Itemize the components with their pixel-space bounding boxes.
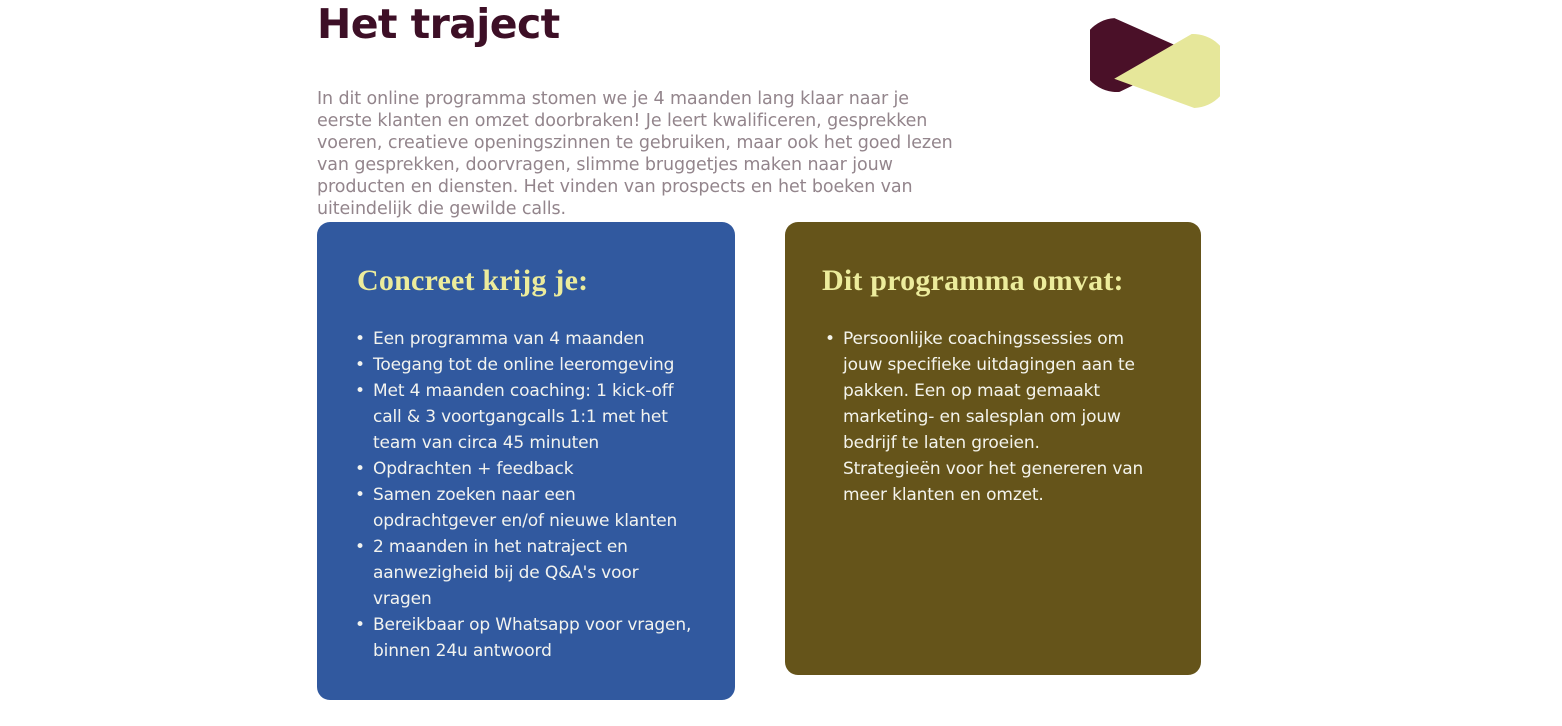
list-item-text: Persoonlijke coachingssessies om jouw sp… (843, 329, 1135, 453)
page-title: Het traject (317, 0, 560, 50)
card-list-concreet: Een programma van 4 maanden Toegang tot … (353, 326, 693, 664)
list-item: Toegang tot de online leeromgeving (353, 352, 693, 378)
teardrop-pair-decoration-icon (1090, 18, 1220, 110)
card-heading-omvat: Dit programma omvat: (822, 264, 1124, 298)
card-heading-concreet: Concreet krijg je: (357, 264, 588, 298)
list-item-extra-text: Strategieën voor het genereren van meer … (843, 456, 1153, 508)
list-item: Bereikbaar op Whatsapp voor vragen, binn… (353, 612, 693, 664)
card-list-omvat: Persoonlijke coachingssessies om jouw sp… (823, 326, 1153, 508)
list-item: Persoonlijke coachingssessies om jouw sp… (823, 326, 1153, 508)
card-concreet-krijg-je: Concreet krijg je: Een programma van 4 m… (317, 222, 735, 700)
list-item: Samen zoeken naar een opdrachtgever en/o… (353, 482, 693, 534)
list-item: Een programma van 4 maanden (353, 326, 693, 352)
card-dit-programma-omvat: Dit programma omvat: Persoonlijke coachi… (785, 222, 1201, 675)
page-root: Het traject In dit online programma stom… (0, 0, 1562, 726)
list-item: 2 maanden in het natraject en aanwezighe… (353, 534, 693, 612)
list-item: Opdrachten + feedback (353, 456, 693, 482)
intro-paragraph: In dit online programma stomen we je 4 m… (317, 88, 967, 220)
list-item: Met 4 maanden coaching: 1 kick-off call … (353, 378, 693, 456)
